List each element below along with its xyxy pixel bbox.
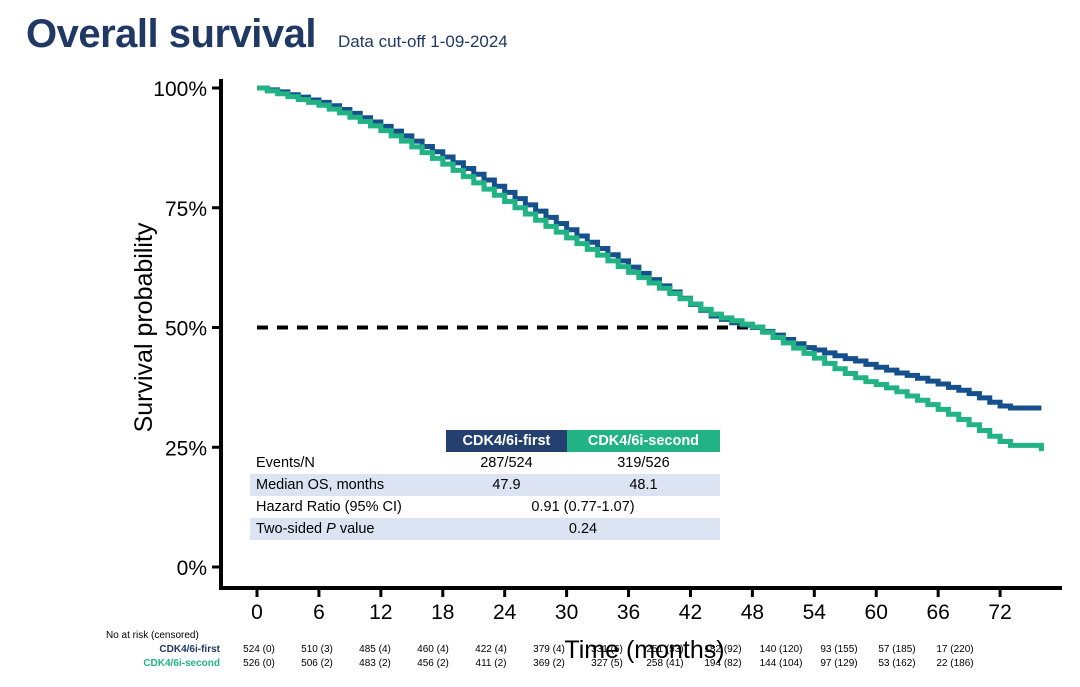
- y-tick-label: 0%: [177, 557, 207, 580]
- kaplan-meier-plot: 0%25%50%75%100%061218243036424854606672 …: [0, 0, 1080, 687]
- risk-cell: 97 (129): [810, 658, 868, 669]
- risk-table-caption: No at risk (censored): [104, 630, 984, 641]
- risk-row-label: CDK4/6i-first: [104, 644, 230, 655]
- legend-arm-a: CDK4/6i-first: [446, 430, 567, 452]
- statistics-table-head: CDK4/6i-first CDK4/6i-second: [250, 430, 720, 452]
- legend-arm-b: CDK4/6i-second: [567, 430, 720, 452]
- x-tick-label: 6: [313, 601, 325, 624]
- risk-cell: 182 (92): [694, 644, 752, 655]
- risk-cell: 526 (0): [230, 658, 288, 669]
- stat-value-arm-b: 319/526: [567, 452, 720, 474]
- survival-curve: [257, 88, 1041, 408]
- risk-cell: 510 (3): [288, 644, 346, 655]
- risk-cell: 483 (2): [346, 658, 404, 669]
- table-row: Events/N287/524319/526: [250, 452, 720, 474]
- x-tick-label: 0: [251, 601, 263, 624]
- risk-cell: 144 (104): [752, 658, 810, 669]
- risk-cell: 57 (185): [868, 644, 926, 655]
- y-tick-label: 25%: [165, 437, 207, 460]
- risk-cell: 456 (2): [404, 658, 462, 669]
- risk-row: CDK4/6i-first524 (0)510 (3)485 (4)460 (4…: [104, 642, 984, 656]
- risk-cell: 506 (2): [288, 658, 346, 669]
- x-tick-label: 18: [431, 601, 454, 624]
- risk-cell: 327 (5): [578, 658, 636, 669]
- y-axis-title: Survival probability: [130, 222, 158, 432]
- y-tick-label: 75%: [165, 198, 207, 221]
- risk-cell: 251 (53): [636, 644, 694, 655]
- risk-cell: 331 (6): [578, 644, 636, 655]
- risk-table-rows: CDK4/6i-first524 (0)510 (3)485 (4)460 (4…: [104, 642, 984, 670]
- stat-value-arm-a: 287/524: [446, 452, 567, 474]
- x-tick-label: 36: [617, 601, 640, 624]
- x-tick-label: 72: [988, 601, 1011, 624]
- risk-row: CDK4/6i-second526 (0)506 (2)483 (2)456 (…: [104, 656, 984, 670]
- stat-value-arm-a: 47.9: [446, 474, 567, 496]
- table-header-row: CDK4/6i-first CDK4/6i-second: [250, 430, 720, 452]
- stat-label: Hazard Ratio (95% CI): [250, 496, 446, 518]
- table-row: Two-sided P value0.24: [250, 518, 720, 540]
- y-tick-label: 50%: [165, 318, 207, 341]
- stat-label: Median OS, months: [250, 474, 446, 496]
- x-tick-label: 30: [555, 601, 578, 624]
- risk-cell: 485 (4): [346, 644, 404, 655]
- statistics-table: CDK4/6i-first CDK4/6i-second Events/N287…: [250, 430, 720, 540]
- x-tick-label: 12: [369, 601, 392, 624]
- stat-value-arm-b: 48.1: [567, 474, 720, 496]
- risk-cell: 258 (41): [636, 658, 694, 669]
- risk-cell: 17 (220): [926, 644, 984, 655]
- stat-value-combined: 0.91 (0.77-1.07): [446, 496, 720, 518]
- table-row: Hazard Ratio (95% CI)0.91 (0.77-1.07): [250, 496, 720, 518]
- stat-label: Events/N: [250, 452, 446, 474]
- stat-value-combined: 0.24: [446, 518, 720, 540]
- statistics-table-body: Events/N287/524319/526Median OS, months4…: [250, 452, 720, 540]
- table-row: Median OS, months47.948.1: [250, 474, 720, 496]
- risk-cell: 422 (4): [462, 644, 520, 655]
- x-tick-label: 60: [865, 601, 888, 624]
- x-tick-label: 66: [926, 601, 949, 624]
- header-blank: [250, 430, 446, 452]
- risk-row-label: CDK4/6i-second: [104, 658, 230, 669]
- x-tick-label: 42: [679, 601, 702, 624]
- x-tick-label: 48: [741, 601, 764, 624]
- risk-cell: 460 (4): [404, 644, 462, 655]
- risk-cell: 411 (2): [462, 658, 520, 669]
- risk-cell: 369 (2): [520, 658, 578, 669]
- survival-chart: 0%25%50%75%100%061218243036424854606672 …: [0, 0, 1080, 687]
- risk-cell: 140 (120): [752, 644, 810, 655]
- survival-curve: [257, 88, 1041, 451]
- risk-cell: 53 (162): [868, 658, 926, 669]
- y-tick-label: 100%: [153, 78, 207, 101]
- stat-label: Two-sided P value: [250, 518, 446, 540]
- risk-cell: 524 (0): [230, 644, 288, 655]
- risk-cell: 22 (186): [926, 658, 984, 669]
- risk-cell: 194 (82): [694, 658, 752, 669]
- x-tick-label: 24: [493, 601, 517, 624]
- x-tick-label: 54: [803, 601, 827, 624]
- survival-curves-group: [257, 88, 1041, 451]
- risk-cell: 93 (155): [810, 644, 868, 655]
- risk-cell: 379 (4): [520, 644, 578, 655]
- numbers-at-risk-table: No at risk (censored) CDK4/6i-first524 (…: [104, 630, 984, 670]
- tick-labels-group: 0%25%50%75%100%061218243036424854606672: [153, 78, 1011, 624]
